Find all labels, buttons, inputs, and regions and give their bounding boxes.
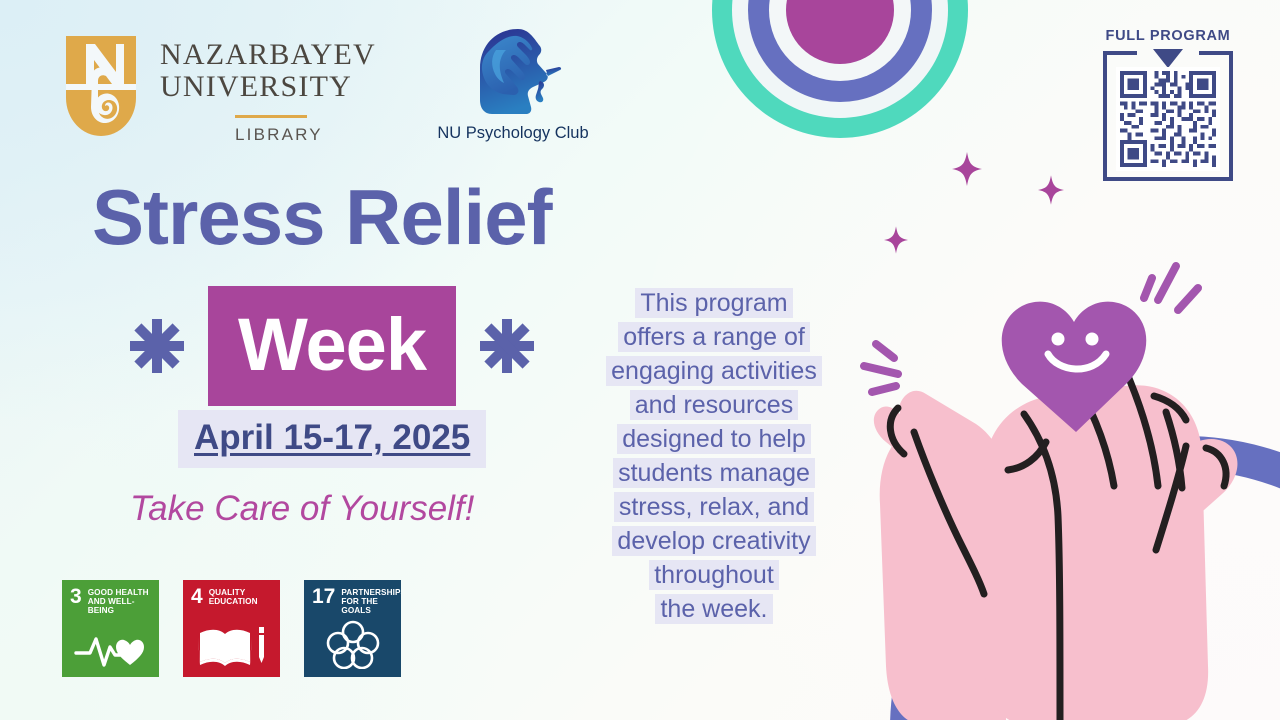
university-name-line-2: UNIVERSITY [160,71,376,103]
description-line: the week. [596,592,832,626]
four-point-star-icon [884,226,908,254]
club-name-label: NU Psychology Club [434,124,592,143]
sdg-badge-17-title: PARTNERSHIPS FOR THE GOALS [341,588,401,616]
description-line: and resources [596,388,832,422]
description-line: stress, relax, and [596,490,832,524]
book-pencil-icon [183,623,280,669]
week-headline-row: Week [128,286,536,406]
smiling-heart-icon [1002,302,1147,432]
four-point-star-icon [1038,175,1064,205]
asterisk-icon [128,317,186,375]
description-line-text: offers a range of [618,322,810,352]
sdg-badge-4-header: 4 QUALITY EDUCATION [183,580,280,606]
description-line-text: throughout [649,560,779,590]
description-line-text: stress, relax, and [614,492,814,522]
heartbeat-icon [62,631,159,669]
ring-middle-periwinkle [748,0,932,102]
logo-divider-rule [235,115,307,118]
triangle-down-icon [1153,49,1183,68]
qr-code-image[interactable] [1116,67,1220,171]
ring-center-magenta [786,0,894,64]
qr-frame [1103,51,1233,181]
interlocking-circles-icon [304,619,401,669]
ring-outer-teal [712,0,968,138]
description-line: students manage [596,456,832,490]
week-highlight-box: Week [208,286,456,406]
sdg-badge-3: 3 GOOD HEALTH AND WELL-BEING [62,580,159,677]
sdg-badge-row: 3 GOOD HEALTH AND WELL-BEING 4 QUALITY E… [62,580,401,677]
description-line-text: This program [635,288,792,318]
four-point-star-icon [952,152,982,186]
description-line-text: engaging activities [606,356,822,386]
cupped-hands-holding-smiling-heart [856,236,1280,720]
qr-frame-bottom-edge [1103,177,1233,181]
qr-frame-right-edge [1229,51,1233,181]
head-with-hand-icon [460,26,566,118]
qr-frame-left-edge [1103,51,1107,181]
description-line-text: and resources [630,390,798,420]
sdg-badge-17-number: 17 [312,588,335,606]
description-line-text: designed to help [617,424,810,454]
program-description: This programoffers a range ofengaging ac… [596,286,832,626]
sdg-badge-17-header: 17 PARTNERSHIPS FOR THE GOALS [304,580,401,616]
sdg-badge-4-number: 4 [191,588,203,606]
event-date: April 15-17, 2025 [178,410,486,468]
sdg-badge-3-header: 3 GOOD HEALTH AND WELL-BEING [62,580,159,616]
description-line: designed to help [596,422,832,456]
full-program-qr-block[interactable]: FULL PROGRAM [1092,28,1244,181]
sdg-badge-4: 4 QUALITY EDUCATION [183,580,280,677]
description-line: engaging activities [596,354,832,388]
blue-arc-decoration [861,407,1280,720]
qr-caption-label: FULL PROGRAM [1092,28,1244,44]
description-line-text: develop creativity [612,526,815,556]
sdg-badge-17: 17 PARTNERSHIPS FOR THE GOALS [304,580,401,677]
poster-title: Stress Relief [92,178,552,256]
description-line: This program [596,286,832,320]
nazarbayev-university-library-logo: NAZARBAYEV UNIVERSITY LIBRARY [62,36,376,145]
nu-psychology-club-logo: NU Psychology Club [434,26,592,143]
nu-logo-mark-icon [62,36,140,136]
library-sublabel: LIBRARY [235,125,376,145]
poster-canvas: NAZARBAYEV UNIVERSITY LIBRARY [0,0,1280,720]
concentric-rings-decoration [712,0,968,138]
ring-gap-2 [769,0,911,81]
sdg-badge-3-number: 3 [70,588,82,606]
sdg-badge-4-title: QUALITY EDUCATION [209,588,258,606]
description-line: offers a range of [596,320,832,354]
ring-gap-1 [732,0,948,118]
description-line-text: students manage [613,458,815,488]
qr-frame-top-left-edge [1103,51,1137,55]
sdg-badge-3-title: GOOD HEALTH AND WELL-BEING [88,588,159,616]
description-line: throughout [596,558,832,592]
description-line: develop creativity [596,524,832,558]
description-line-text: the week. [655,594,772,624]
university-name-line-1: NAZARBAYEV [160,39,376,71]
qr-frame-top-right-edge [1199,51,1233,55]
asterisk-icon [478,317,536,375]
event-tagline: Take Care of Yourself! [130,489,474,529]
